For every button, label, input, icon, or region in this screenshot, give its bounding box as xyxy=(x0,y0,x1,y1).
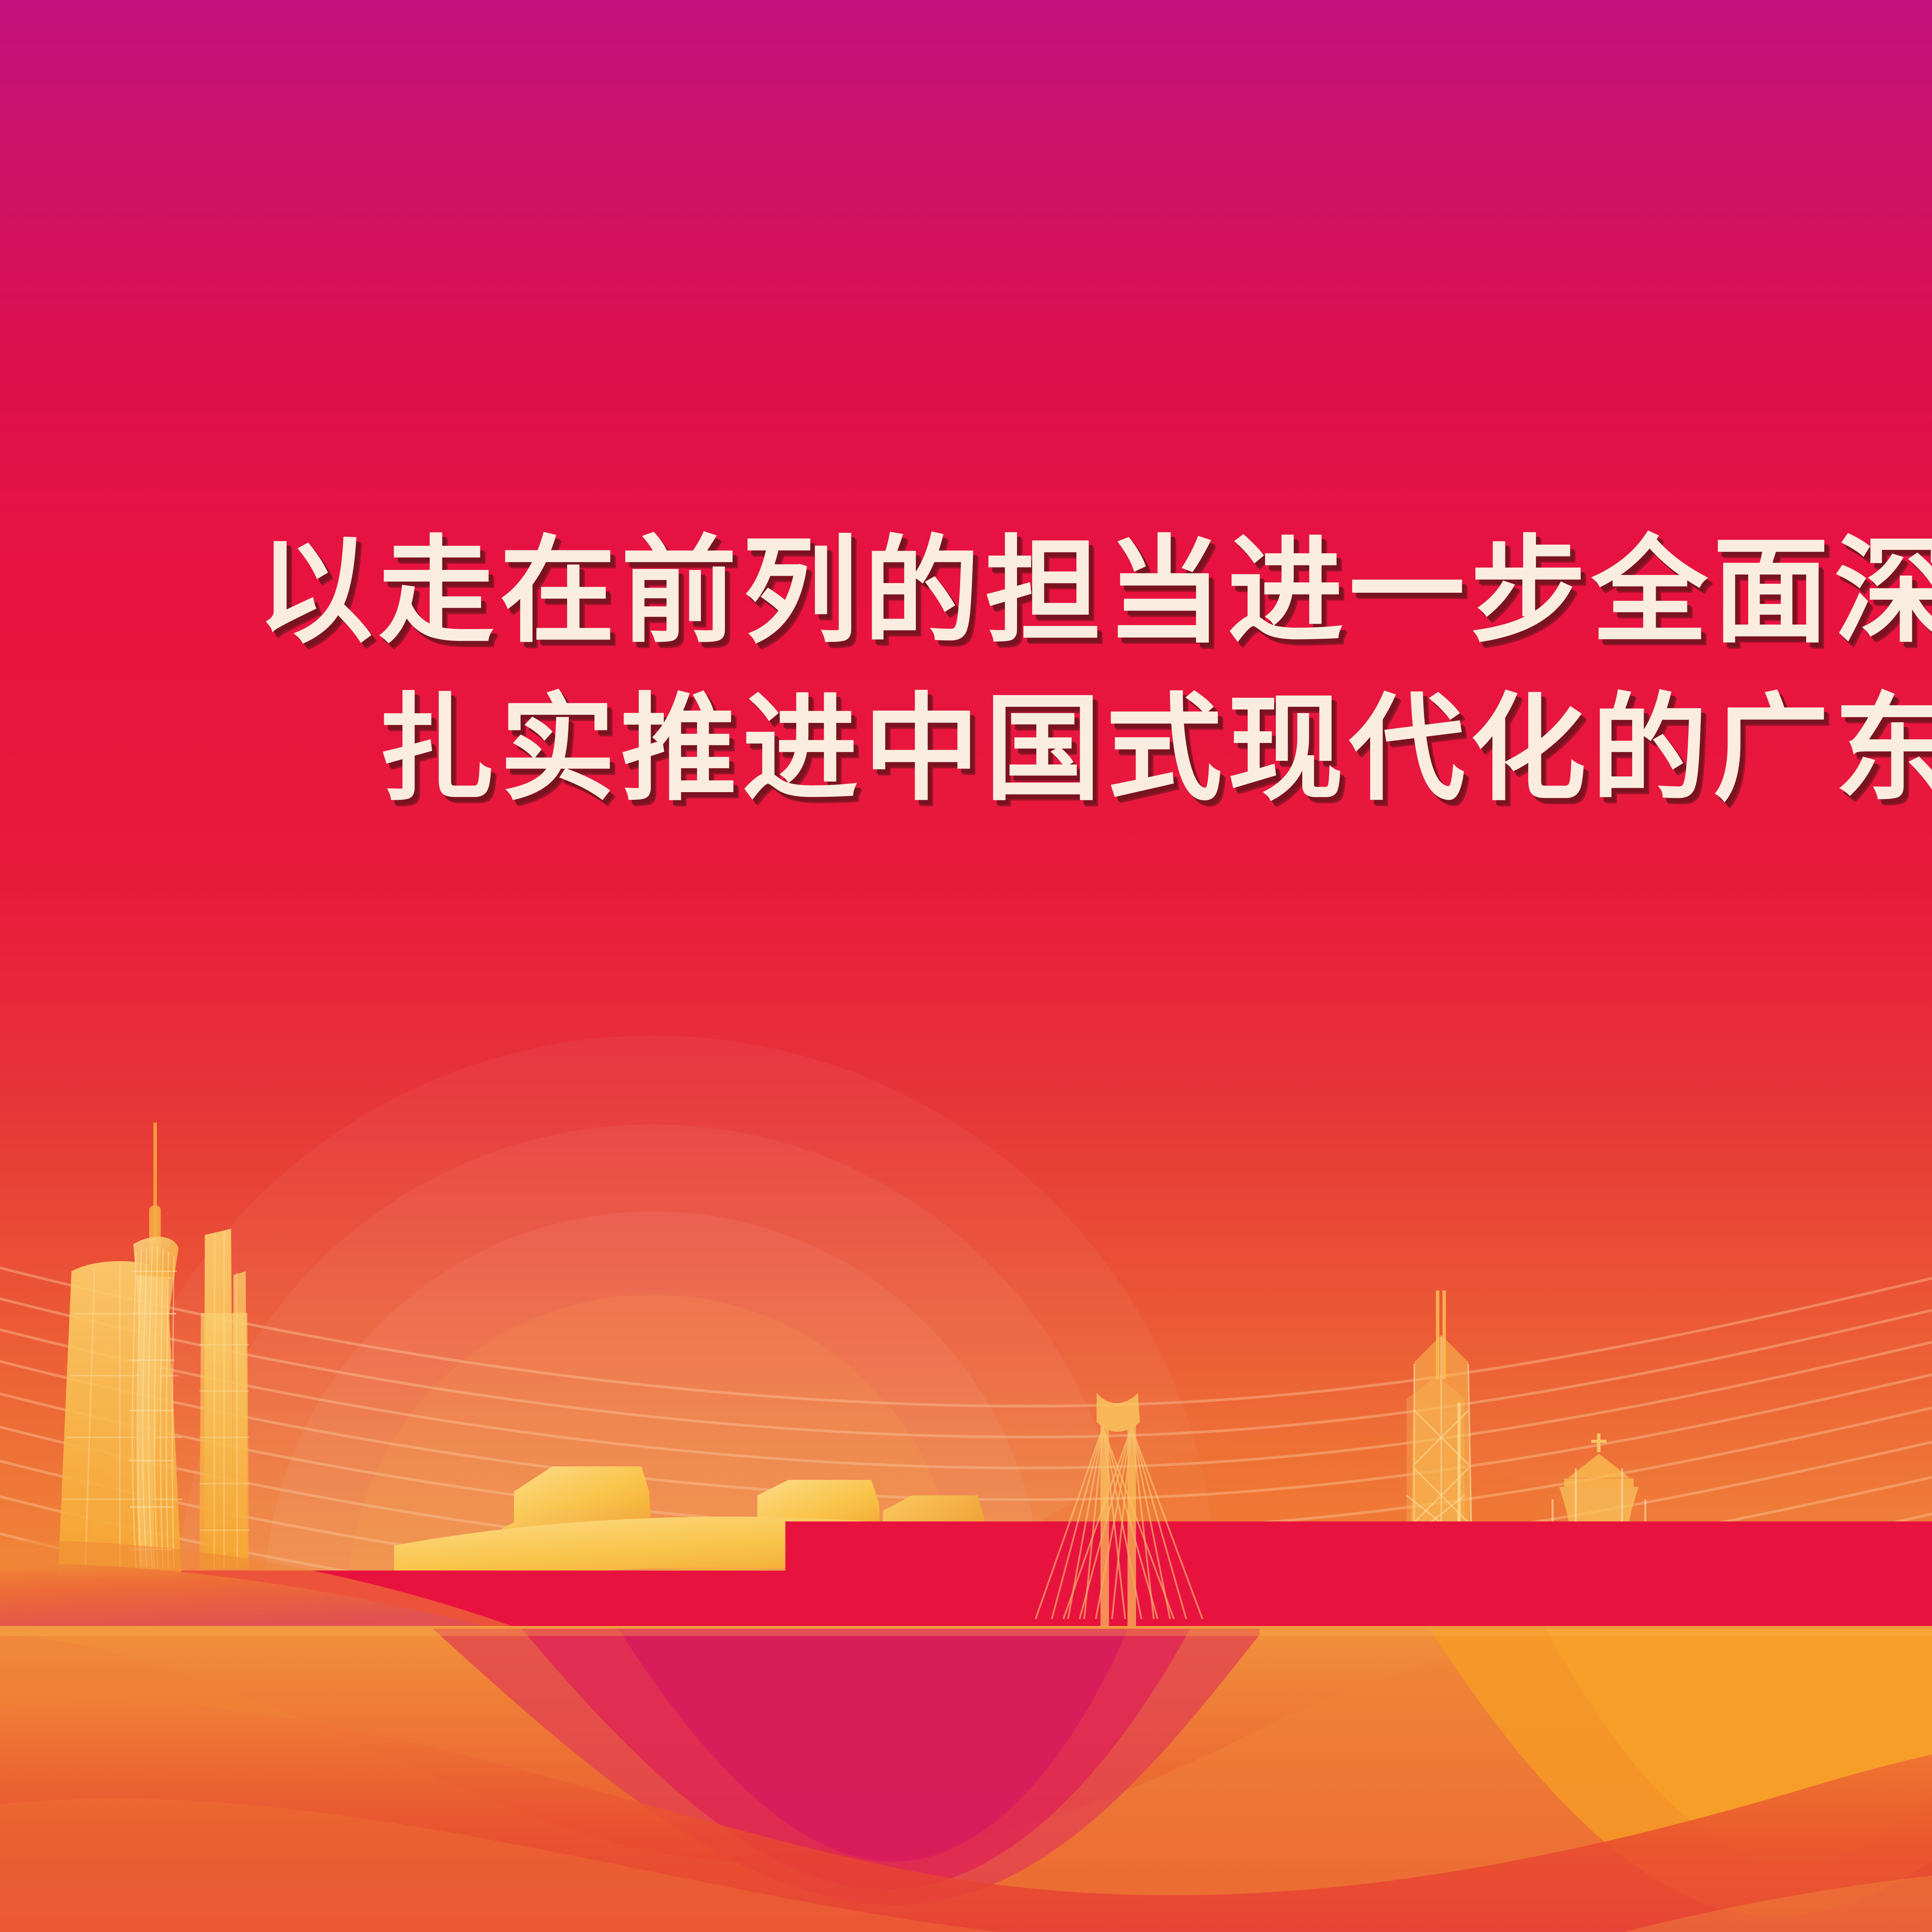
guangzhou-skyline xyxy=(58,1122,249,1577)
title-line-1: 以走在前列的担当进一步全面深化改革 xyxy=(0,533,1932,649)
bank-of-china-tower xyxy=(1406,1376,1464,1577)
poster-title: 以走在前列的担当进一步全面深化改革 扎实推进中国式现代化的广东实践 xyxy=(0,533,1932,807)
foreground-artwork xyxy=(0,0,1932,1932)
cable-stayed-bridge xyxy=(1036,1393,1202,1634)
title-line-2: 扎实推进中国式现代化的广东实践 xyxy=(0,691,1932,807)
poster-canvas: 以走在前列的担当进一步全面深化改革 扎实推进中国式现代化的广东实践 xyxy=(0,0,1932,1932)
